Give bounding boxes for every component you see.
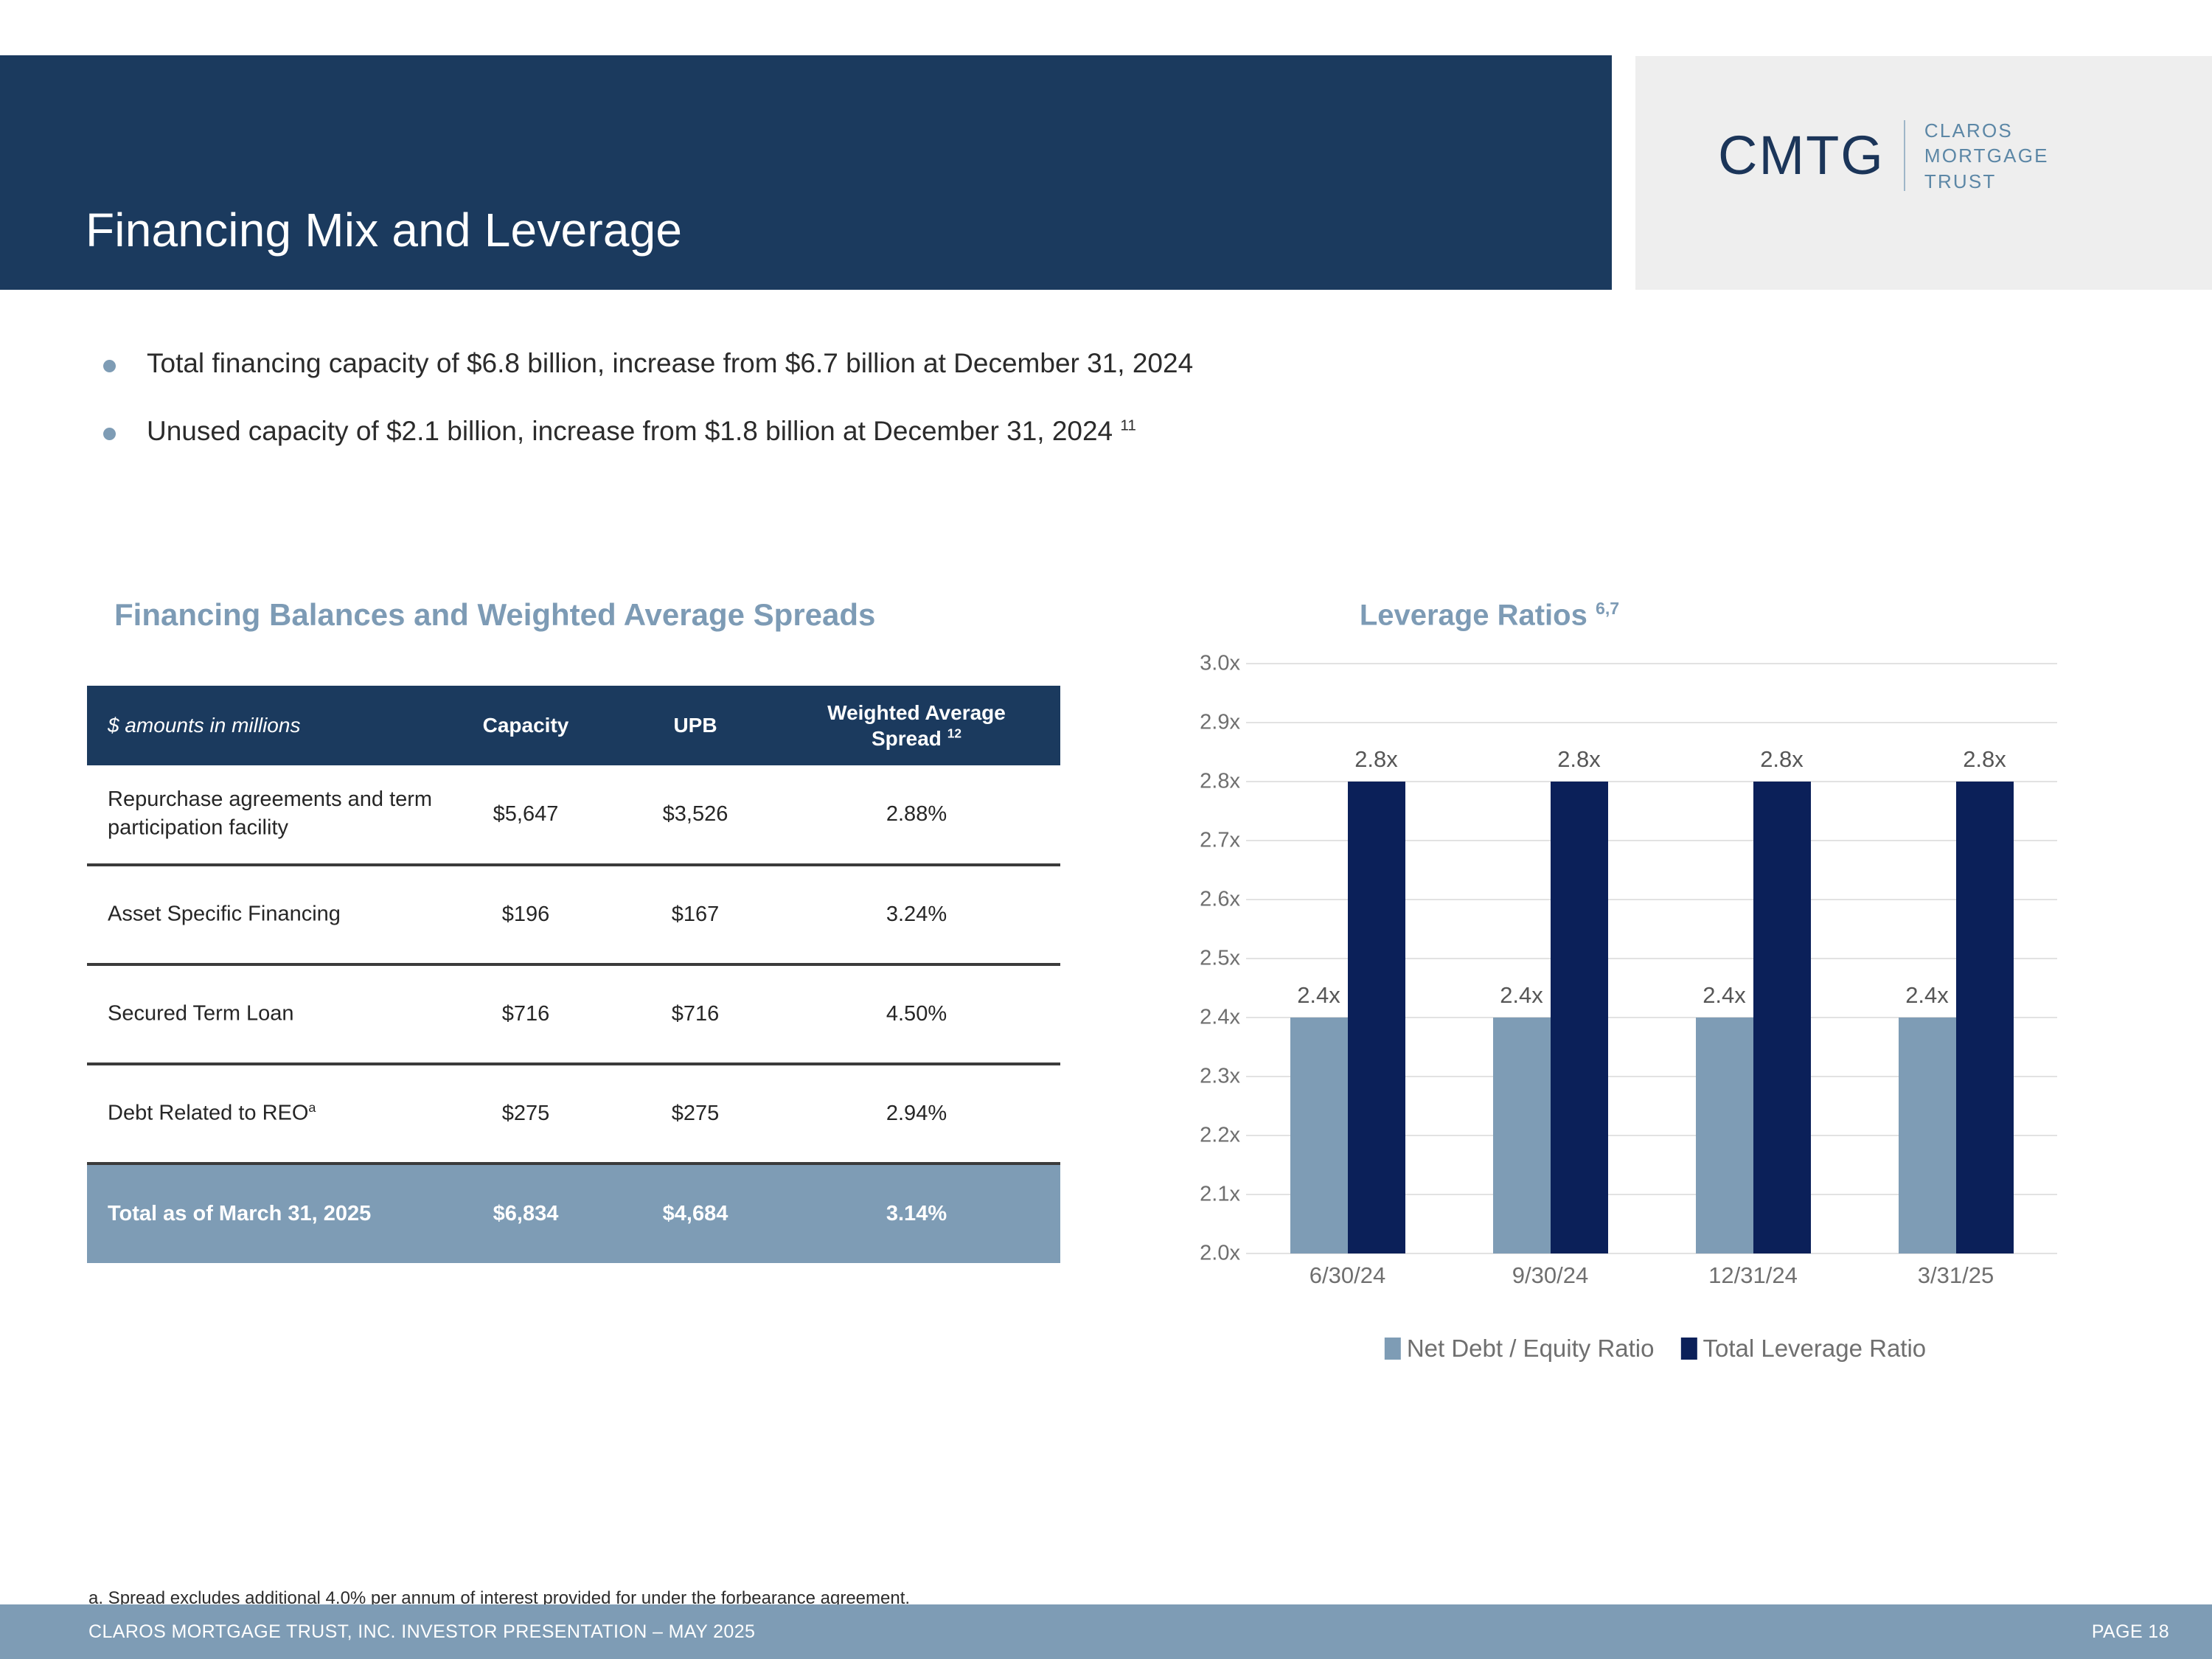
legend-label: Net Debt / Equity Ratio (1407, 1335, 1655, 1363)
cell-upb: $275 (618, 1064, 773, 1164)
cell-label: Secured Term Loan (87, 964, 434, 1064)
cell-total-label: Total as of March 31, 2025 (87, 1164, 434, 1263)
y-axis-tick-label: 2.6x (1200, 888, 1240, 912)
y-axis-tick-label: 2.5x (1200, 947, 1240, 971)
column-header-spread-line2: Spread (872, 727, 947, 750)
chart-bar-group: 2.4x2.8x (1493, 782, 1608, 1253)
chart-bar-group: 2.4x2.8x (1696, 782, 1811, 1253)
table-heading: Financing Balances and Weighted Average … (114, 597, 875, 633)
bullet-superscript: 11 (1120, 417, 1136, 434)
cell-spread: 2.94% (773, 1064, 1060, 1164)
column-header-spread: Weighted Average Spread 12 (773, 686, 1060, 765)
chart-bar-value-label: 2.8x (1354, 746, 1398, 773)
cell-capacity: $275 (434, 1064, 618, 1164)
company-logo: CMTG CLAROS MORTGAGE TRUST (1718, 118, 2049, 194)
y-axis-tick-label: 2.3x (1200, 1065, 1240, 1089)
chart-bar-value-label: 2.4x (1500, 982, 1543, 1009)
cell-label: Repurchase agreements and term participa… (87, 765, 434, 865)
chart-title: Leverage Ratios 6,7 (1360, 599, 1619, 632)
cell-upb: $716 (618, 964, 773, 1064)
footer-bar: CLAROS MORTGAGE TRUST, INC. INVESTOR PRE… (0, 1604, 2212, 1659)
table-header-row: $ amounts in millions Capacity UPB Weigh… (87, 686, 1060, 765)
chart-title-superscript: 6,7 (1596, 599, 1619, 618)
chart-bar-group: 2.4x2.8x (1899, 782, 2014, 1253)
x-axis-tick-label: 3/31/25 (1918, 1262, 1994, 1289)
list-item: Total financing capacity of $6.8 billion… (103, 347, 1652, 380)
chart-bar-total-leverage: 2.8x (1348, 782, 1405, 1253)
legend-swatch-icon (1680, 1338, 1697, 1360)
cell-upb: $3,526 (618, 765, 773, 865)
footer-page-number: PAGE 18 (2092, 1621, 2169, 1643)
y-axis-tick-label: 2.8x (1200, 770, 1240, 794)
table-header: $ amounts in millions Capacity UPB Weigh… (87, 686, 1060, 765)
cell-label-superscript: a (308, 1100, 316, 1115)
page-title: Financing Mix and Leverage (86, 203, 682, 257)
chart-bar-total-leverage: 2.8x (1753, 782, 1811, 1253)
chart-bar-value-label: 2.8x (1557, 746, 1601, 773)
y-axis-tick-label: 2.7x (1200, 829, 1240, 853)
logo-wordmark: CMTG (1718, 128, 1885, 183)
bullet-dot-icon (103, 360, 116, 372)
cell-capacity: $196 (434, 865, 618, 964)
table-row: Debt Related to REOa $275 $275 2.94% (87, 1064, 1060, 1164)
chart-bar-value-label: 2.4x (1297, 982, 1340, 1009)
logo-fullname: CLAROS MORTGAGE TRUST (1924, 118, 2049, 194)
cell-upb: $167 (618, 865, 773, 964)
column-header-spread-line1: Weighted Average (827, 701, 1006, 724)
chart-bar-value-label: 2.8x (1760, 746, 1804, 773)
chart-bar-net-debt-equity: 2.4x (1290, 1018, 1348, 1253)
cell-total-spread: 3.14% (773, 1164, 1060, 1263)
chart-legend: Net Debt / Equity RatioTotal Leverage Ra… (1385, 1335, 1926, 1363)
logo-fullname-line2: MORTGAGE (1924, 143, 2049, 168)
cell-total-capacity: $6,834 (434, 1164, 618, 1263)
list-item: Unused capacity of $2.1 billion, increas… (103, 414, 1652, 448)
legend-swatch-icon (1385, 1338, 1401, 1360)
logo-fullname-line1: CLAROS (1924, 118, 2049, 143)
y-axis-tick-label: 2.2x (1200, 1124, 1240, 1148)
column-header-capacity: Capacity (434, 686, 618, 765)
table-body: Repurchase agreements and term participa… (87, 765, 1060, 1263)
cell-label: Asset Specific Financing (87, 865, 434, 964)
cell-spread: 2.88% (773, 765, 1060, 865)
table-row: Secured Term Loan $716 $716 4.50% (87, 964, 1060, 1064)
column-header-spread-superscript: 12 (947, 726, 961, 741)
y-axis-tick-label: 2.4x (1200, 1006, 1240, 1030)
column-header-label: $ amounts in millions (87, 686, 434, 765)
y-axis-tick-label: 3.0x (1200, 652, 1240, 676)
cell-spread: 3.24% (773, 865, 1060, 964)
logo-fullname-line3: TRUST (1924, 169, 2049, 194)
financing-balances-table: $ amounts in millions Capacity UPB Weigh… (87, 686, 1060, 1263)
footer-presentation-label: CLAROS MORTGAGE TRUST, INC. INVESTOR PRE… (88, 1621, 755, 1643)
bullet-text: Unused capacity of $2.1 billion, increas… (147, 414, 1136, 448)
legend-item[interactable]: Total Leverage Ratio (1680, 1335, 1926, 1363)
x-axis-tick-label: 6/30/24 (1310, 1262, 1385, 1289)
cell-label: Debt Related to REOa (87, 1064, 434, 1164)
column-header-upb: UPB (618, 686, 773, 765)
y-axis-tick-label: 2.0x (1200, 1242, 1240, 1266)
chart-gridline (1246, 663, 2057, 664)
bullet-dot-icon (103, 428, 116, 440)
chart-bar-net-debt-equity: 2.4x (1696, 1018, 1753, 1253)
logo-divider (1904, 120, 1905, 191)
chart-bar-net-debt-equity: 2.4x (1493, 1018, 1551, 1253)
chart-bar-value-label: 2.8x (1963, 746, 2006, 773)
chart-bar-value-label: 2.4x (1703, 982, 1746, 1009)
cell-capacity: $716 (434, 964, 618, 1064)
table-row: Repurchase agreements and term participa… (87, 765, 1060, 865)
y-axis-tick-label: 2.1x (1200, 1183, 1240, 1207)
cell-total-upb: $4,684 (618, 1164, 773, 1263)
chart-bar-group: 2.4x2.8x (1290, 782, 1405, 1253)
legend-label: Total Leverage Ratio (1703, 1335, 1926, 1363)
leverage-ratios-chart: 3.0x2.9x2.8x2.7x2.6x2.5x2.4x2.3x2.2x2.1x… (1246, 664, 2057, 1253)
table-total-row: Total as of March 31, 2025 $6,834 $4,684… (87, 1164, 1060, 1263)
cell-capacity: $5,647 (434, 765, 618, 865)
bullet-list: Total financing capacity of $6.8 billion… (103, 347, 1652, 483)
chart-bar-total-leverage: 2.8x (1551, 782, 1608, 1253)
chart-gridline (1246, 722, 2057, 723)
x-axis-tick-label: 12/31/24 (1708, 1262, 1798, 1289)
bullet-text: Total financing capacity of $6.8 billion… (147, 347, 1193, 380)
cell-spread: 4.50% (773, 964, 1060, 1064)
chart-bar-net-debt-equity: 2.4x (1899, 1018, 1956, 1253)
chart-bar-value-label: 2.4x (1905, 982, 1949, 1009)
y-axis-tick-label: 2.9x (1200, 711, 1240, 735)
x-axis-tick-label: 9/30/24 (1512, 1262, 1588, 1289)
table-row: Asset Specific Financing $196 $167 3.24% (87, 865, 1060, 964)
chart-bar-total-leverage: 2.8x (1956, 782, 2014, 1253)
legend-item[interactable]: Net Debt / Equity Ratio (1385, 1335, 1655, 1363)
